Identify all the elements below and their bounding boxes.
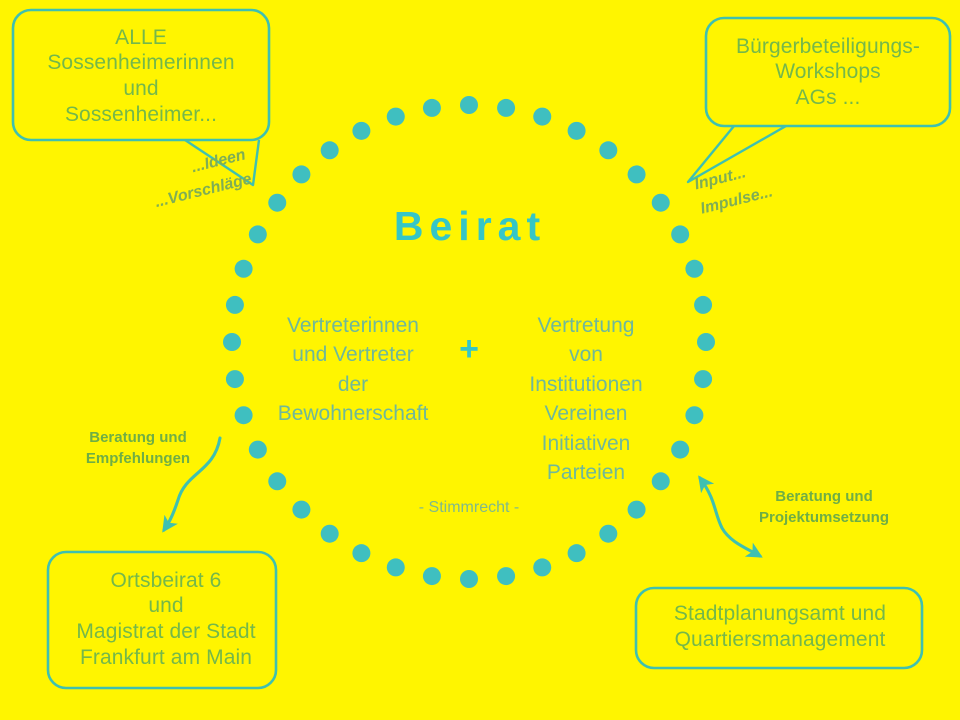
speech-bubble-top-right-text: Bürgerbeteiligungs- Workshops AGs ... <box>704 18 952 126</box>
circle-dot <box>497 567 515 585</box>
diagram-canvas: ALLE Sossenheimerinnen und Sossenheimer.… <box>0 0 960 720</box>
circle-dot <box>697 333 715 351</box>
circle-dot <box>460 570 478 588</box>
circle-dot <box>268 472 286 490</box>
circle-dot <box>249 441 267 459</box>
circle-dot <box>352 122 370 140</box>
center-left-column: Vertreterinnen und Vertreter der Bewohne… <box>268 311 438 429</box>
circle-dot <box>568 122 586 140</box>
plus-icon: + <box>448 332 490 366</box>
circle-dot <box>652 194 670 212</box>
center-footnote: - Stimmrecht - <box>379 499 559 517</box>
speech-bubble-top-left-text: ALLE Sossenheimerinnen und Sossenheimer.… <box>12 12 270 140</box>
circle-dot <box>628 165 646 183</box>
circle-dot <box>497 99 515 117</box>
note-input-impulse: Input... Impulse... <box>692 145 820 222</box>
circle-dot <box>671 225 689 243</box>
circle-dot <box>599 525 617 543</box>
circle-dot <box>352 544 370 562</box>
circle-dot <box>533 558 551 576</box>
circle-dot <box>533 108 551 126</box>
circle-dot <box>321 141 339 159</box>
circle-dot <box>321 525 339 543</box>
arrow-label-beratung-empfehlungen: Beratung und Empfehlungen <box>68 427 208 470</box>
circle-dot <box>460 96 478 114</box>
center-title: Beirat <box>330 203 610 250</box>
circle-dot <box>226 296 244 314</box>
circle-dot <box>268 194 286 212</box>
circle-dot <box>423 567 441 585</box>
circle-dot <box>387 108 405 126</box>
circle-dot <box>671 441 689 459</box>
box-bottom-right-text: Stadtplanungsamt und Quartiersmanagement <box>634 588 926 666</box>
circle-dot <box>694 370 712 388</box>
circle-dot <box>628 501 646 519</box>
circle-dot <box>685 406 703 424</box>
circle-dot <box>568 544 586 562</box>
circle-dot <box>694 296 712 314</box>
box-bottom-left-text: Ortsbeirat 6 und Magistrat der Stadt Fra… <box>46 552 286 686</box>
circle-dot <box>685 260 703 278</box>
note-ideen-vorschlaege: ...Ideen ...Vorschläge <box>128 143 254 220</box>
center-right-column: Vertretung von Institutionen Vereinen In… <box>500 311 672 487</box>
circle-dot <box>599 141 617 159</box>
arrow-label-beratung-projektumsetzung: Beratung und Projektumsetzung <box>742 486 906 529</box>
circle-dot <box>223 333 241 351</box>
circle-dot <box>249 225 267 243</box>
circle-dot <box>226 370 244 388</box>
circle-dot <box>292 165 310 183</box>
circle-dot <box>423 99 441 117</box>
circle-dot <box>387 558 405 576</box>
circle-dot <box>235 406 253 424</box>
circle-dot <box>235 260 253 278</box>
circle-dot <box>292 501 310 519</box>
